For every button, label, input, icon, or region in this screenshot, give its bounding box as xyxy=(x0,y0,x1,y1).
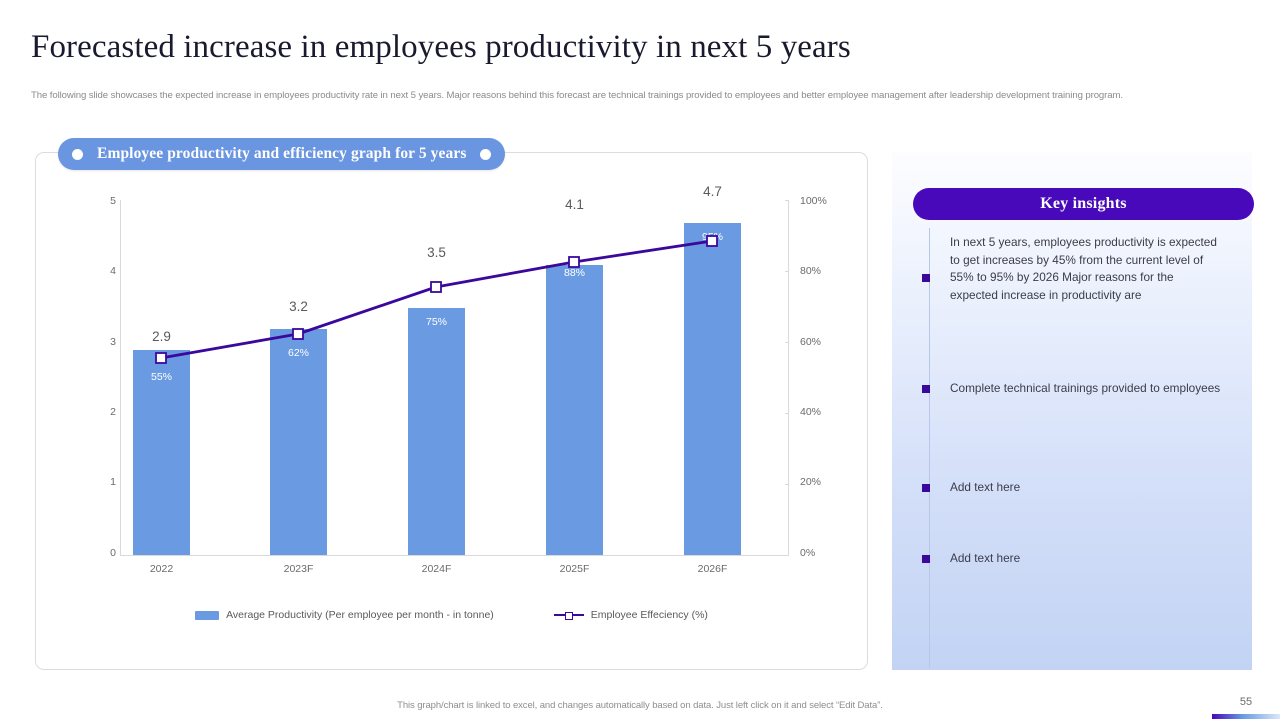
page-title: Forecasted increase in employees product… xyxy=(31,29,851,66)
chart-title-banner: Employee productivity and efficiency gra… xyxy=(58,138,505,170)
key-insights-panel: Key insights In next 5 years, employees … xyxy=(892,152,1252,670)
bars-layer: 55% 62% 75% 88% 95% xyxy=(35,152,868,670)
line-marker-2023F[interactable] xyxy=(293,329,303,339)
y-tick-right-0: 0% xyxy=(800,548,815,559)
bar-pct-2023F: 62% xyxy=(270,348,327,359)
line-swatch-icon xyxy=(554,611,584,620)
bar-2022[interactable] xyxy=(133,350,190,555)
line-marker-2022[interactable] xyxy=(156,353,166,363)
y-tick-left-3: 3 xyxy=(110,337,116,348)
insight-item-2[interactable]: Complete technical trainings provided to… xyxy=(922,380,1222,398)
y-tick-left-4: 4 xyxy=(110,266,116,277)
y-tick-left-5: 5 xyxy=(110,196,116,207)
insight-item-3[interactable]: Add text here xyxy=(922,479,1222,497)
y-tick-left-2: 2 xyxy=(110,407,116,418)
tick-mark-right-40 xyxy=(785,413,789,414)
chart-plot-area: 5 4 3 2 1 0 100% 80% 60% 40% 20% 0% xyxy=(35,152,868,670)
chart-y-axis-right: 100% 80% 60% 40% 20% 0% xyxy=(792,200,837,553)
legend-item-efficiency[interactable]: Employee Effeciency (%) xyxy=(554,609,708,621)
tick-mark-right-80 xyxy=(785,271,789,272)
bar-pct-2026F: 95% xyxy=(684,232,741,243)
insight-text-2: Complete technical trainings provided to… xyxy=(950,380,1222,398)
bar-2025F[interactable] xyxy=(546,265,603,555)
bar-2023F[interactable] xyxy=(270,329,327,555)
footer-note: This graph/chart is linked to excel, and… xyxy=(0,700,1280,711)
line-marker-2025F[interactable] xyxy=(569,257,579,267)
legend-item-productivity[interactable]: Average Productivity (Per employee per m… xyxy=(195,609,494,621)
x-label-2026F: 2026F xyxy=(684,564,741,575)
value-label-2024F: 3.5 xyxy=(408,246,465,260)
key-insights-header: Key insights xyxy=(913,188,1254,220)
y-tick-right-80: 80% xyxy=(800,266,821,277)
value-label-2023F: 3.2 xyxy=(270,300,327,314)
chart-legend: Average Productivity (Per employee per m… xyxy=(35,609,868,621)
y-tick-right-60: 60% xyxy=(800,337,821,348)
slide-root: Forecasted increase in employees product… xyxy=(0,0,1280,720)
y-tick-right-100: 100% xyxy=(800,196,827,207)
y-axis-line-left xyxy=(120,200,121,555)
chart-y-axis-left: 5 4 3 2 1 0 xyxy=(90,200,116,553)
bar-swatch-icon xyxy=(195,611,219,620)
insight-text-1: In next 5 years, employees productivity … xyxy=(950,234,1222,304)
page-accent-bar xyxy=(1212,714,1280,719)
page-number: 55 xyxy=(1228,696,1264,708)
insight-item-4[interactable]: Add text here xyxy=(922,550,1222,568)
tick-mark-right-60 xyxy=(785,342,789,343)
line-marker-2024F[interactable] xyxy=(431,282,441,292)
y-axis-line-right xyxy=(788,200,789,555)
legend-label-efficiency: Employee Effeciency (%) xyxy=(591,609,708,621)
efficiency-line-path xyxy=(161,241,712,358)
value-labels-layer: 2.9 3.2 3.5 4.1 4.7 xyxy=(35,152,868,670)
bullet-square-icon xyxy=(922,385,930,393)
key-insights-title: Key insights xyxy=(1040,195,1126,213)
x-axis-line xyxy=(120,555,789,556)
bar-2024F[interactable] xyxy=(408,308,465,555)
dot-left-icon xyxy=(72,149,83,160)
slide-subtitle: The following slide showcases the expect… xyxy=(31,89,1211,103)
y-tick-left-1: 1 xyxy=(110,477,116,488)
bullet-square-icon xyxy=(922,555,930,563)
bar-pct-2025F: 88% xyxy=(546,268,603,279)
value-label-2022: 2.9 xyxy=(133,330,190,344)
x-label-2025F: 2025F xyxy=(546,564,603,575)
line-marker-2026F[interactable] xyxy=(707,236,717,246)
efficiency-line-series xyxy=(35,152,868,670)
bar-pct-2024F: 75% xyxy=(408,317,465,328)
insight-item-1[interactable]: In next 5 years, employees productivity … xyxy=(922,234,1222,304)
legend-label-productivity: Average Productivity (Per employee per m… xyxy=(226,609,494,621)
y-tick-right-20: 20% xyxy=(800,477,821,488)
bullet-square-icon xyxy=(922,274,930,282)
x-label-2022: 2022 xyxy=(133,564,190,575)
insight-text-3: Add text here xyxy=(950,479,1222,497)
bullet-square-icon xyxy=(922,484,930,492)
tick-mark-right-20 xyxy=(785,484,789,485)
bar-pct-2022: 55% xyxy=(133,372,190,383)
bar-2026F[interactable] xyxy=(684,223,741,555)
insight-text-4: Add text here xyxy=(950,550,1222,568)
tick-mark-right-100 xyxy=(785,200,789,201)
value-label-2026F: 4.7 xyxy=(684,185,741,199)
chart-banner-title: Employee productivity and efficiency gra… xyxy=(97,145,466,163)
x-label-2024F: 2024F xyxy=(408,564,465,575)
y-tick-left-0: 0 xyxy=(110,548,116,559)
x-label-2023F: 2023F xyxy=(270,564,327,575)
dot-right-icon xyxy=(480,149,491,160)
x-axis-labels: 2022 2023F 2024F 2025F 2026F xyxy=(35,152,868,670)
value-label-2025F: 4.1 xyxy=(546,198,603,212)
y-tick-right-40: 40% xyxy=(800,407,821,418)
